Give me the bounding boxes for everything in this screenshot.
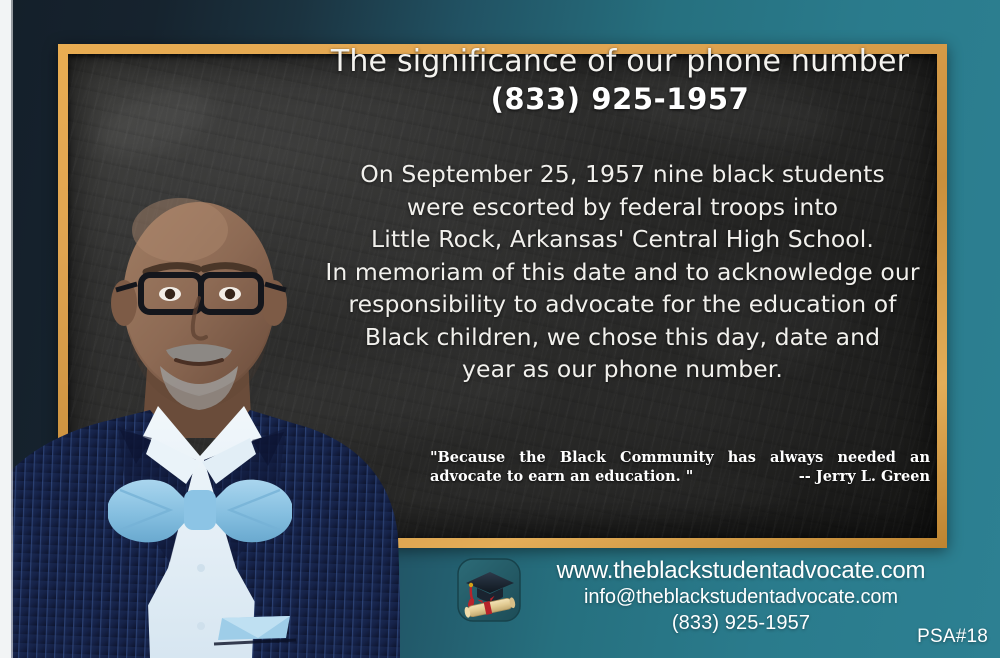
left-margin-edge [11, 0, 13, 658]
website-url[interactable]: www.theblackstudentadvocate.com [527, 556, 955, 585]
email-address[interactable]: info@theblackstudentadvocate.com [527, 585, 955, 610]
footer: www.theblackstudentadvocate.com info@the… [455, 556, 955, 656]
quote-attribution: -- Jerry L. Green [799, 467, 930, 486]
footer-contact-lines: www.theblackstudentadvocate.com info@the… [527, 556, 955, 636]
quote-line-2-row: advocate to earn an education. " -- Jerr… [430, 467, 930, 486]
footer-phone-number[interactable]: (833) 925-1957 [527, 610, 955, 636]
quote-block: "Because the Black Community has always … [430, 448, 930, 486]
headline-phone-number: (833) 925-1957 [300, 82, 940, 116]
body-line: Little Rock, Arkansas' Central High Scho… [295, 223, 950, 256]
body-line: responsibility to advocate for the educa… [295, 288, 950, 321]
body-line: year as our phone number. [295, 353, 950, 386]
psa-tag: PSA#18 [917, 626, 988, 648]
graduation-cap-diploma-logo[interactable] [457, 558, 521, 622]
headline: The significance of our phone number [300, 44, 940, 79]
body-line: were escorted by federal troops into [295, 191, 950, 224]
quote-line-2: advocate to earn an education. " [430, 467, 693, 486]
psa-poster: The significance of our phone number (83… [0, 0, 1000, 658]
body-line: Black children, we chose this day, date … [295, 321, 950, 354]
body-paragraph: On September 25, 1957 nine black student… [295, 158, 950, 386]
left-margin-strip [0, 0, 11, 658]
body-line: On September 25, 1957 nine black student… [295, 158, 950, 191]
quote-line-1: "Because the Black Community has always … [430, 448, 930, 467]
body-line: In memoriam of this date and to acknowle… [295, 256, 950, 289]
